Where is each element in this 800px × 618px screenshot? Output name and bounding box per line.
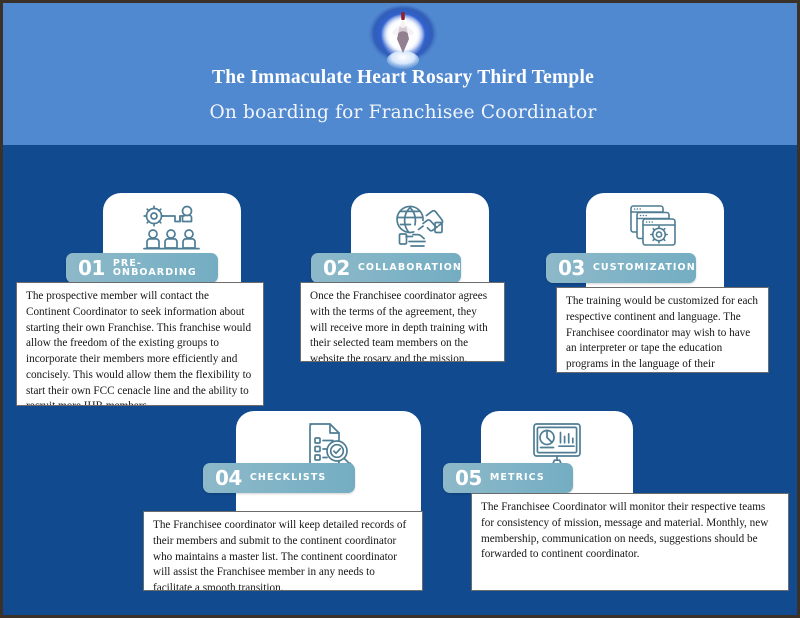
poster-header: The Immaculate Heart Rosary Third Temple… bbox=[3, 3, 800, 145]
step-badge-03[interactable]: 03 CUSTOMIZATION bbox=[546, 253, 696, 283]
step-number-03: 03 bbox=[558, 258, 585, 278]
infographic-poster: The Immaculate Heart Rosary Third Temple… bbox=[0, 0, 800, 618]
step-body-01: The prospective member will contact the … bbox=[16, 282, 264, 406]
step-badge-01[interactable]: 01 PRE-ONBOARDING bbox=[66, 253, 218, 283]
step-badge-04[interactable]: 04 CHECKLISTS bbox=[203, 463, 355, 493]
step-body-02: Once the Franchisee coordinator agrees w… bbox=[300, 282, 505, 362]
step-label-01: PRE-ONBOARDING bbox=[113, 259, 218, 278]
gear-key-people-icon bbox=[103, 203, 241, 253]
globe-handshake-icon bbox=[351, 203, 489, 253]
step-number-02: 02 bbox=[323, 258, 350, 278]
step-label-03: CUSTOMIZATION bbox=[593, 263, 696, 273]
page-subtitle: On boarding for Franchisee Coordinator bbox=[3, 102, 800, 123]
step-number-01: 01 bbox=[78, 258, 105, 278]
page-title: The Immaculate Heart Rosary Third Temple bbox=[3, 67, 800, 89]
step-number-05: 05 bbox=[455, 468, 482, 488]
step-badge-05[interactable]: 05 METRICS bbox=[443, 463, 573, 493]
step-body-04: The Franchisee coordinator will keep det… bbox=[143, 511, 423, 591]
step-body-03: The training would be customized for eac… bbox=[556, 287, 769, 373]
step-label-05: METRICS bbox=[490, 473, 545, 483]
step-label-04: CHECKLISTS bbox=[250, 473, 327, 483]
monitor-charts-icon bbox=[481, 421, 633, 469]
glowing-sacred-figure-logo bbox=[364, 5, 442, 71]
step-body-05: The Franchisee Coordinator will monitor … bbox=[471, 493, 789, 591]
windows-gear-icon bbox=[586, 203, 724, 251]
step-badge-02[interactable]: 02 COLLABORATION bbox=[311, 253, 461, 283]
step-number-04: 04 bbox=[215, 468, 242, 488]
step-label-02: COLLABORATION bbox=[358, 263, 462, 273]
